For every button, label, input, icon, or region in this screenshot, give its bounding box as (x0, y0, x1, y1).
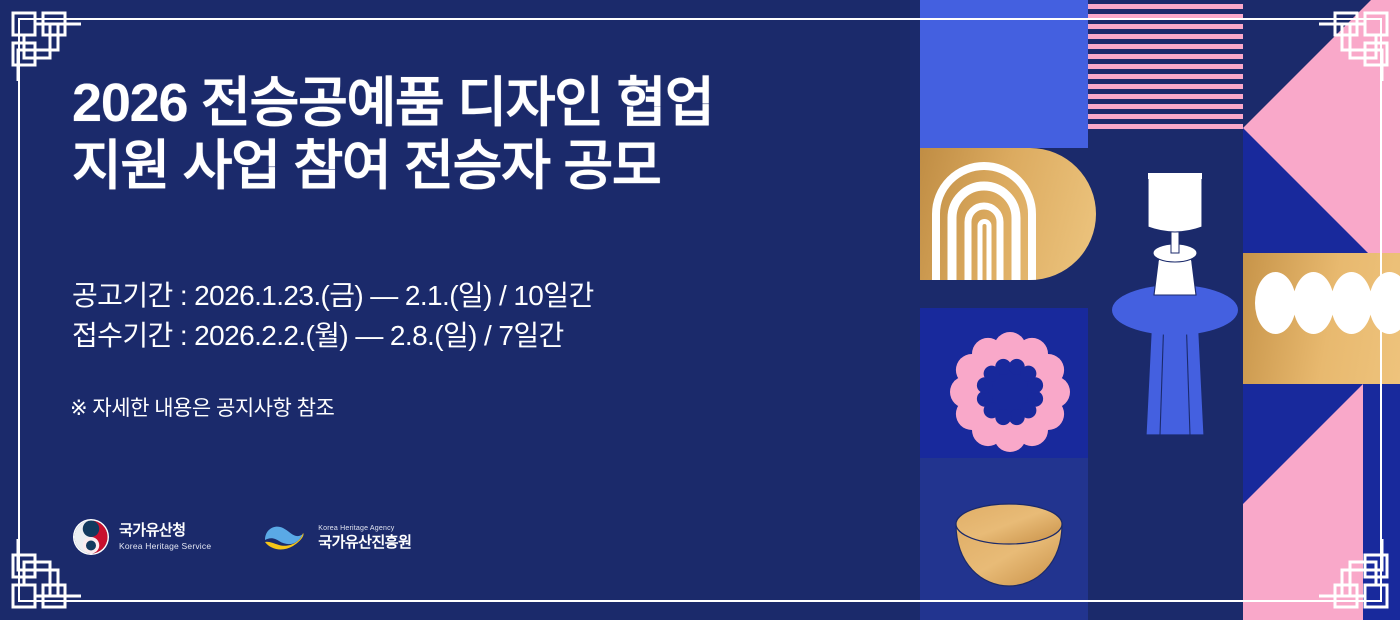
triangle-navy-bottom (1243, 384, 1363, 504)
stripe-line (1088, 34, 1243, 39)
stripe-line (1088, 64, 1243, 69)
note-text: ※ 자세한 내용은 공지사항 참조 (70, 392, 334, 422)
stripe-line (1088, 24, 1243, 29)
text-content-area: 2026 전승공예품 디자인 협업 지원 사업 참여 전승자 공모 공고기간 :… (0, 0, 920, 620)
stripe-line (1088, 104, 1243, 109)
stripe-line (1088, 84, 1243, 89)
corner-ornament-bottom-right-icon (1316, 536, 1390, 610)
decorative-art-panel (920, 0, 1400, 620)
logo-label-korean: 국가유산진흥원 (318, 535, 411, 550)
white-egg (1331, 272, 1372, 334)
corner-ornament-top-right-icon (1316, 10, 1390, 84)
stripe-line (1088, 14, 1243, 19)
stripe-line (1088, 54, 1243, 59)
pink-stripe-pattern (1088, 0, 1243, 130)
bg-block-royal-top-left (938, 0, 1088, 148)
logo-label-english-top: Korea Heritage Agency (318, 525, 411, 532)
promotional-banner: 2026 전승공예품 디자인 협업 지원 사업 참여 전승자 공모 공고기간 :… (0, 0, 1400, 620)
stripe-line (1088, 114, 1243, 119)
table-lamp-and-table-icon (1110, 165, 1240, 465)
corner-ornament-bottom-left-icon (10, 536, 84, 610)
stripe-line (1088, 74, 1243, 79)
logo-label-korean: 국가유산청 (119, 523, 211, 538)
white-egg (1255, 272, 1296, 334)
stripe-line (1088, 124, 1243, 129)
logo-label-english: Korea Heritage Service (119, 542, 211, 551)
swoosh-icon (261, 520, 309, 554)
logo-korea-heritage-service: 국가유산청 Korea Heritage Service (72, 518, 211, 556)
logo-korea-heritage-agency: Korea Heritage Agency 국가유산진흥원 (261, 520, 411, 554)
page-title: 2026 전승공예품 디자인 협업 지원 사업 참여 전승자 공모 (72, 72, 872, 198)
pink-flower-ring-icon (950, 332, 1070, 452)
gold-bowl-icon (950, 498, 1068, 590)
notice-period-line: 공고기간 : 2026.1.23.(금) — 2.1.(일) / 10일간 (72, 276, 594, 316)
bg-block-royal-strip (920, 0, 938, 148)
stripe-line (1088, 94, 1243, 99)
application-period-line: 접수기간 : 2026.2.2.(월) — 2.8.(일) / 7일간 (72, 316, 594, 356)
stripe-line (1088, 4, 1243, 9)
stripe-line (1088, 44, 1243, 49)
corner-ornament-top-left-icon (10, 10, 84, 84)
arch-rings-icon (920, 148, 1096, 280)
period-info: 공고기간 : 2026.1.23.(금) — 2.1.(일) / 10일간 접수… (72, 276, 594, 356)
white-egg (1293, 272, 1334, 334)
logo-group: 국가유산청 Korea Heritage Service Korea Herit… (72, 518, 411, 556)
triangle-navy-mid (1243, 128, 1368, 253)
gold-arch-block (920, 148, 1096, 280)
